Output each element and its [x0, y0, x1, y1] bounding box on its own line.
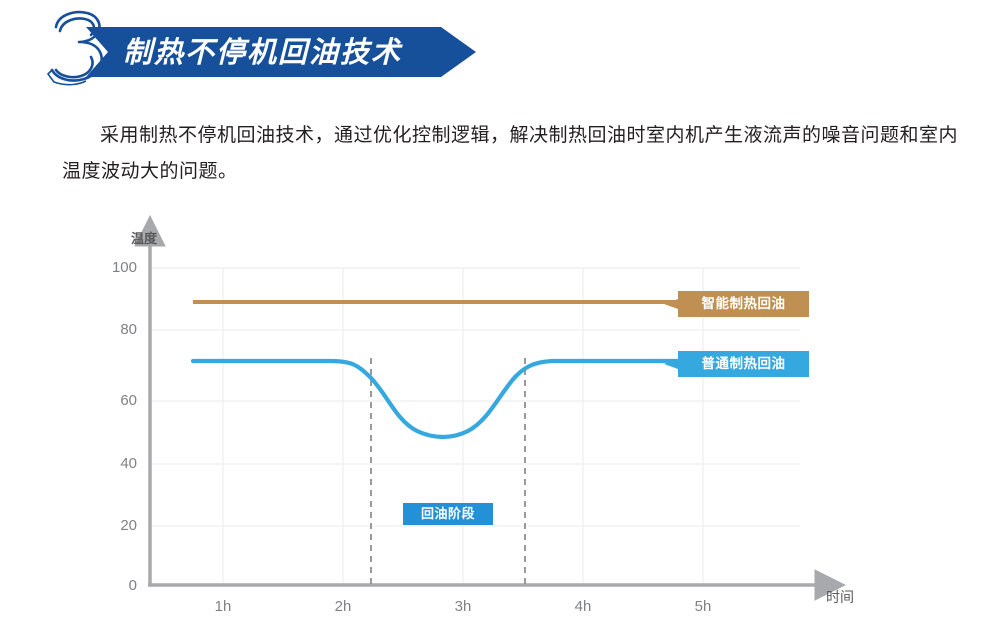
- y-tick-label: 100: [103, 259, 137, 276]
- x-tick-label: 2h: [323, 598, 363, 615]
- y-tick-label: 60: [103, 392, 137, 409]
- x-tick-label: 4h: [563, 598, 603, 615]
- paragraph-text: 采用制热不停机回油技术，通过优化控制逻辑，解决制热回油时室内机产生液流声的噪音问…: [62, 125, 958, 182]
- chart-canvas: [0, 215, 990, 632]
- x-tick-label: 1h: [203, 598, 243, 615]
- x-tick-label: 5h: [683, 598, 723, 615]
- page-title: 制热不停机回油技术: [123, 33, 443, 73]
- x-axis-title: 时间: [826, 587, 854, 607]
- y-tick-label: 40: [103, 455, 137, 472]
- phase-label: 回油阶段: [403, 503, 493, 525]
- legend-callout-normal: 普通制热回油: [664, 351, 809, 377]
- x-tick-label: 3h: [443, 598, 483, 615]
- y-tick-label: 0: [103, 577, 137, 594]
- body-paragraph: 采用制热不停机回油技术，通过优化控制逻辑，解决制热回油时室内机产生液流声的噪音问…: [62, 118, 962, 190]
- temperature-chart: 温度 时间 100 80 60 40 20 0 1h 2h 3h 4h 5h: [0, 215, 990, 632]
- legend-callout-smart: 智能制热回油: [664, 291, 809, 317]
- y-axis-title: 温度: [131, 228, 157, 247]
- y-tick-label: 80: [103, 321, 137, 338]
- grid-vertical: [223, 268, 703, 585]
- y-tick-label: 20: [103, 517, 137, 534]
- page-header: 制热不停机回油技术: [0, 0, 990, 100]
